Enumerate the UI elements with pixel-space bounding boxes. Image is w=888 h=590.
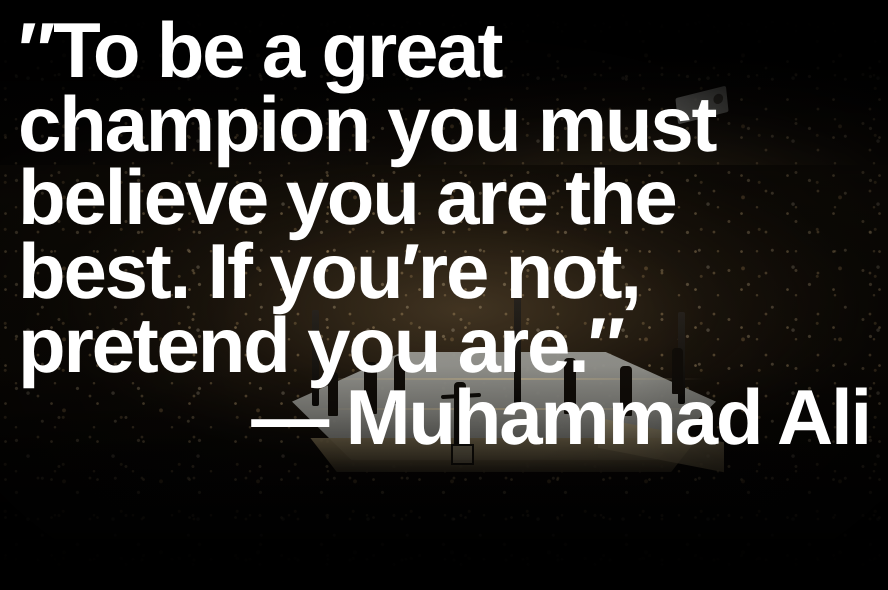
quote-attribution: — Muhammad Ali [18,381,872,455]
quote-line-2: champion you must [18,88,872,162]
quote-line-5: pretend you are.″ [18,309,872,383]
quote-text-block: ″To be a great champion you must believe… [0,0,888,590]
quote-line-1: ″To be a great [18,14,872,88]
quote-line-4: best. If you′re not, [18,235,872,309]
quote-line-3: believe you are the [18,161,872,235]
quote-graphic: ″To be a great champion you must believe… [0,0,888,590]
